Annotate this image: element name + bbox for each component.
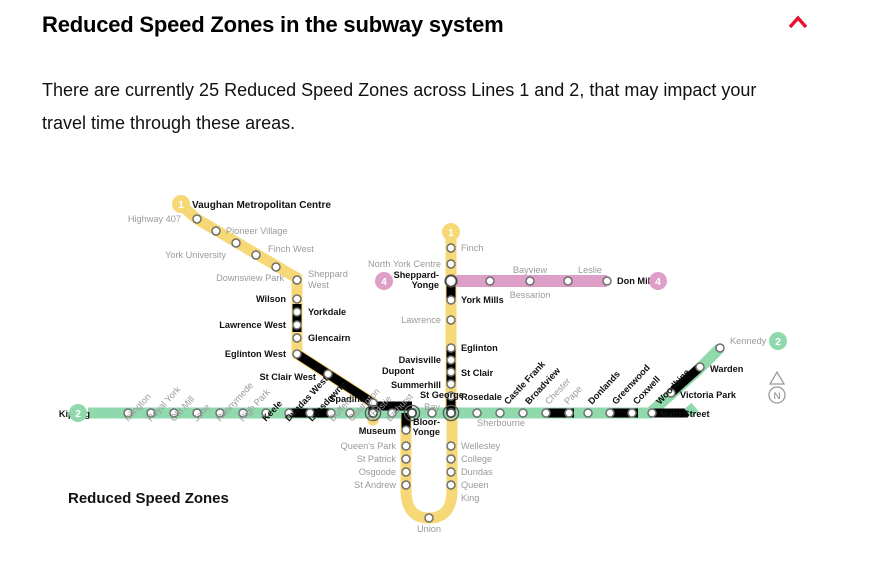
station-label: Summerhill (391, 380, 441, 390)
station-label: St George (420, 390, 464, 400)
line-badge-4-donmills: 4 (649, 272, 667, 290)
north-triangle-icon (770, 372, 784, 384)
station-label: Wilson (256, 294, 286, 304)
line-badge-label: 2 (75, 408, 81, 420)
station-label: Warden (710, 364, 744, 374)
station-label: Dupont (382, 366, 414, 376)
station-label: Bay (424, 402, 440, 412)
station-label: Sherbourne (477, 418, 525, 428)
compass: N (769, 372, 785, 403)
station-label: Lawrence West (219, 320, 286, 330)
station-label: St Clair West (259, 372, 316, 382)
station-label: West (308, 280, 329, 290)
line-badge-label: 4 (381, 276, 387, 288)
station-label: York University (165, 250, 226, 260)
station-label: Bloor- (413, 417, 440, 427)
station-label: College (461, 454, 492, 464)
station-label: Dundas (461, 467, 493, 477)
station-label: Museum (359, 426, 396, 436)
line-badge-label: 1 (448, 227, 454, 239)
station-label: Rosedale (461, 392, 502, 402)
station-label: Davisville (399, 355, 441, 365)
station-label: Main Street (660, 409, 710, 419)
reduced-speed-zones-panel: Reduced Speed Zones in the subway system… (0, 0, 890, 562)
station-label: Osgoode (359, 467, 396, 477)
station-label: Queen's Park (341, 441, 397, 451)
station-label: St Patrick (357, 454, 397, 464)
station-label: Highway 407 (128, 214, 181, 224)
station-label: Yorkdale (308, 307, 346, 317)
subway-map-svg: Vaughan Metropolitan Centre Highway 407 … (40, 160, 850, 540)
intro-text: There are currently 25 Reduced Speed Zon… (42, 74, 802, 140)
station-label: Eglinton (461, 343, 498, 353)
line2-east-labels: Castle Frank Broadview Chester Pape Donl… (502, 336, 767, 419)
station-label: Finch West (268, 244, 314, 254)
station-label: Leslie (578, 265, 602, 275)
station-label: Kennedy (730, 336, 767, 346)
station-label: Yonge (412, 280, 439, 290)
station-label: Victoria Park (680, 390, 737, 400)
station-label: St Clair (461, 368, 494, 378)
compass-north-label: N (774, 391, 781, 402)
line-badge-1-finch: 1 (442, 223, 460, 241)
station-label: Downsview Park (216, 273, 284, 283)
station-label: Yonge (413, 427, 440, 437)
panel-header: Reduced Speed Zones in the subway system (42, 10, 782, 40)
line-badge-label: 2 (775, 336, 781, 348)
station-label: Finch (461, 243, 483, 253)
line-badge-2-kennedy: 2 (769, 332, 787, 350)
station-label: North York Centre (368, 259, 441, 269)
station-label: Glencairn (308, 333, 351, 343)
line-badge-2-kipling: 2 (69, 404, 87, 422)
station-label: Eglinton West (225, 349, 286, 359)
station-label: Wellesley (461, 441, 501, 451)
station-label: Union (417, 524, 441, 534)
line-badge-4-sheppard: 4 (375, 272, 393, 290)
station-label: Queen (461, 480, 489, 490)
north-circle-icon: N (769, 387, 785, 403)
station-label: St Andrew (354, 480, 396, 490)
station-label: Bayview (513, 265, 548, 275)
station-label: Sheppard (308, 269, 348, 279)
line-badge-1-vmc: 1 (172, 195, 190, 213)
line-badge-label: 4 (655, 276, 661, 288)
station-label: Lawrence (401, 315, 441, 325)
station-label: King (461, 493, 479, 503)
legend-reduced-speed-zones: Reduced Speed Zones (68, 490, 229, 507)
station-label: Vaughan Metropolitan Centre (192, 200, 331, 211)
station-label: Pioneer Village (226, 226, 288, 236)
station-label: York Mills (461, 295, 504, 305)
page-title: Reduced Speed Zones in the subway system (42, 10, 782, 40)
line-badge-label: 1 (178, 199, 184, 211)
station-label: Bessarion (510, 290, 551, 300)
station-label: Sheppard- (394, 270, 439, 280)
chevron-up-icon[interactable] (786, 13, 810, 33)
subway-map: Vaughan Metropolitan Centre Highway 407 … (40, 160, 850, 540)
